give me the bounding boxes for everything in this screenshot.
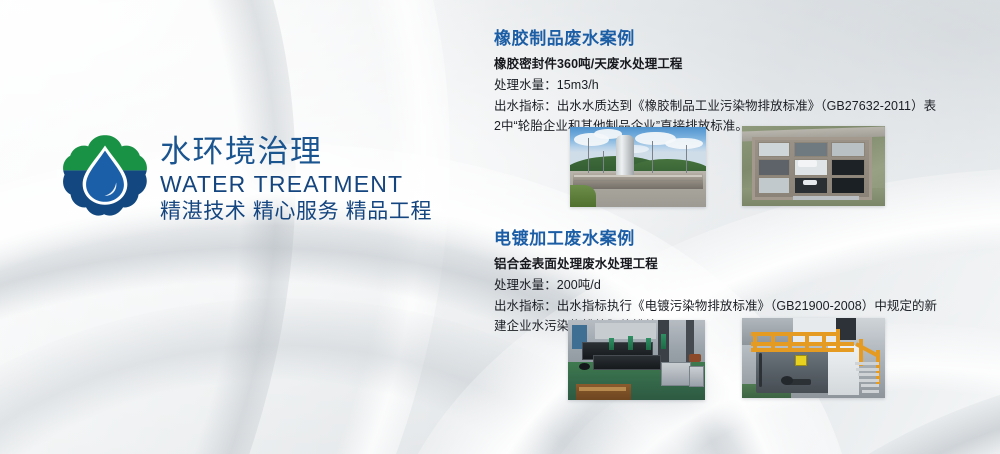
banner-canvas: 水环境治理 WATER TREATMENT 精湛技术 精心服务 精品工程 橡胶制…: [0, 0, 1000, 454]
case-title-electroplating: 电镀加工废水案例: [494, 228, 946, 249]
case-subtitle-electroplating: 铝合金表面处理废水处理工程: [494, 255, 946, 273]
photo-indoor-electroplating-tanks: [568, 320, 705, 400]
water-drop-blossom-logo-icon: [62, 133, 148, 225]
brand-slogan: 精湛技术 精心服务 精品工程: [160, 199, 432, 225]
photo-aerial-wastewater-basins: [742, 126, 885, 206]
photo-tank-with-orange-railing-stairs: [742, 318, 885, 398]
brand-lockup: 水环境治理 WATER TREATMENT 精湛技术 精心服务 精品工程: [62, 133, 432, 226]
brand-title-cn: 水环境治理: [160, 135, 432, 170]
case-capacity-electroplating: 处理水量：200吨/d: [494, 275, 946, 295]
photo-outdoor-treatment-plant-with-silo: [570, 127, 706, 207]
case-capacity-rubber: 处理水量：15m3/h: [494, 75, 946, 95]
case-block-rubber: 橡胶制品废水案例 橡胶密封件360吨/天废水处理工程 处理水量：15m3/h 出…: [494, 28, 946, 136]
brand-title-en: WATER TREATMENT: [160, 170, 432, 199]
case-subtitle-rubber: 橡胶密封件360吨/天废水处理工程: [494, 55, 946, 73]
case-title-rubber: 橡胶制品废水案例: [494, 28, 946, 49]
